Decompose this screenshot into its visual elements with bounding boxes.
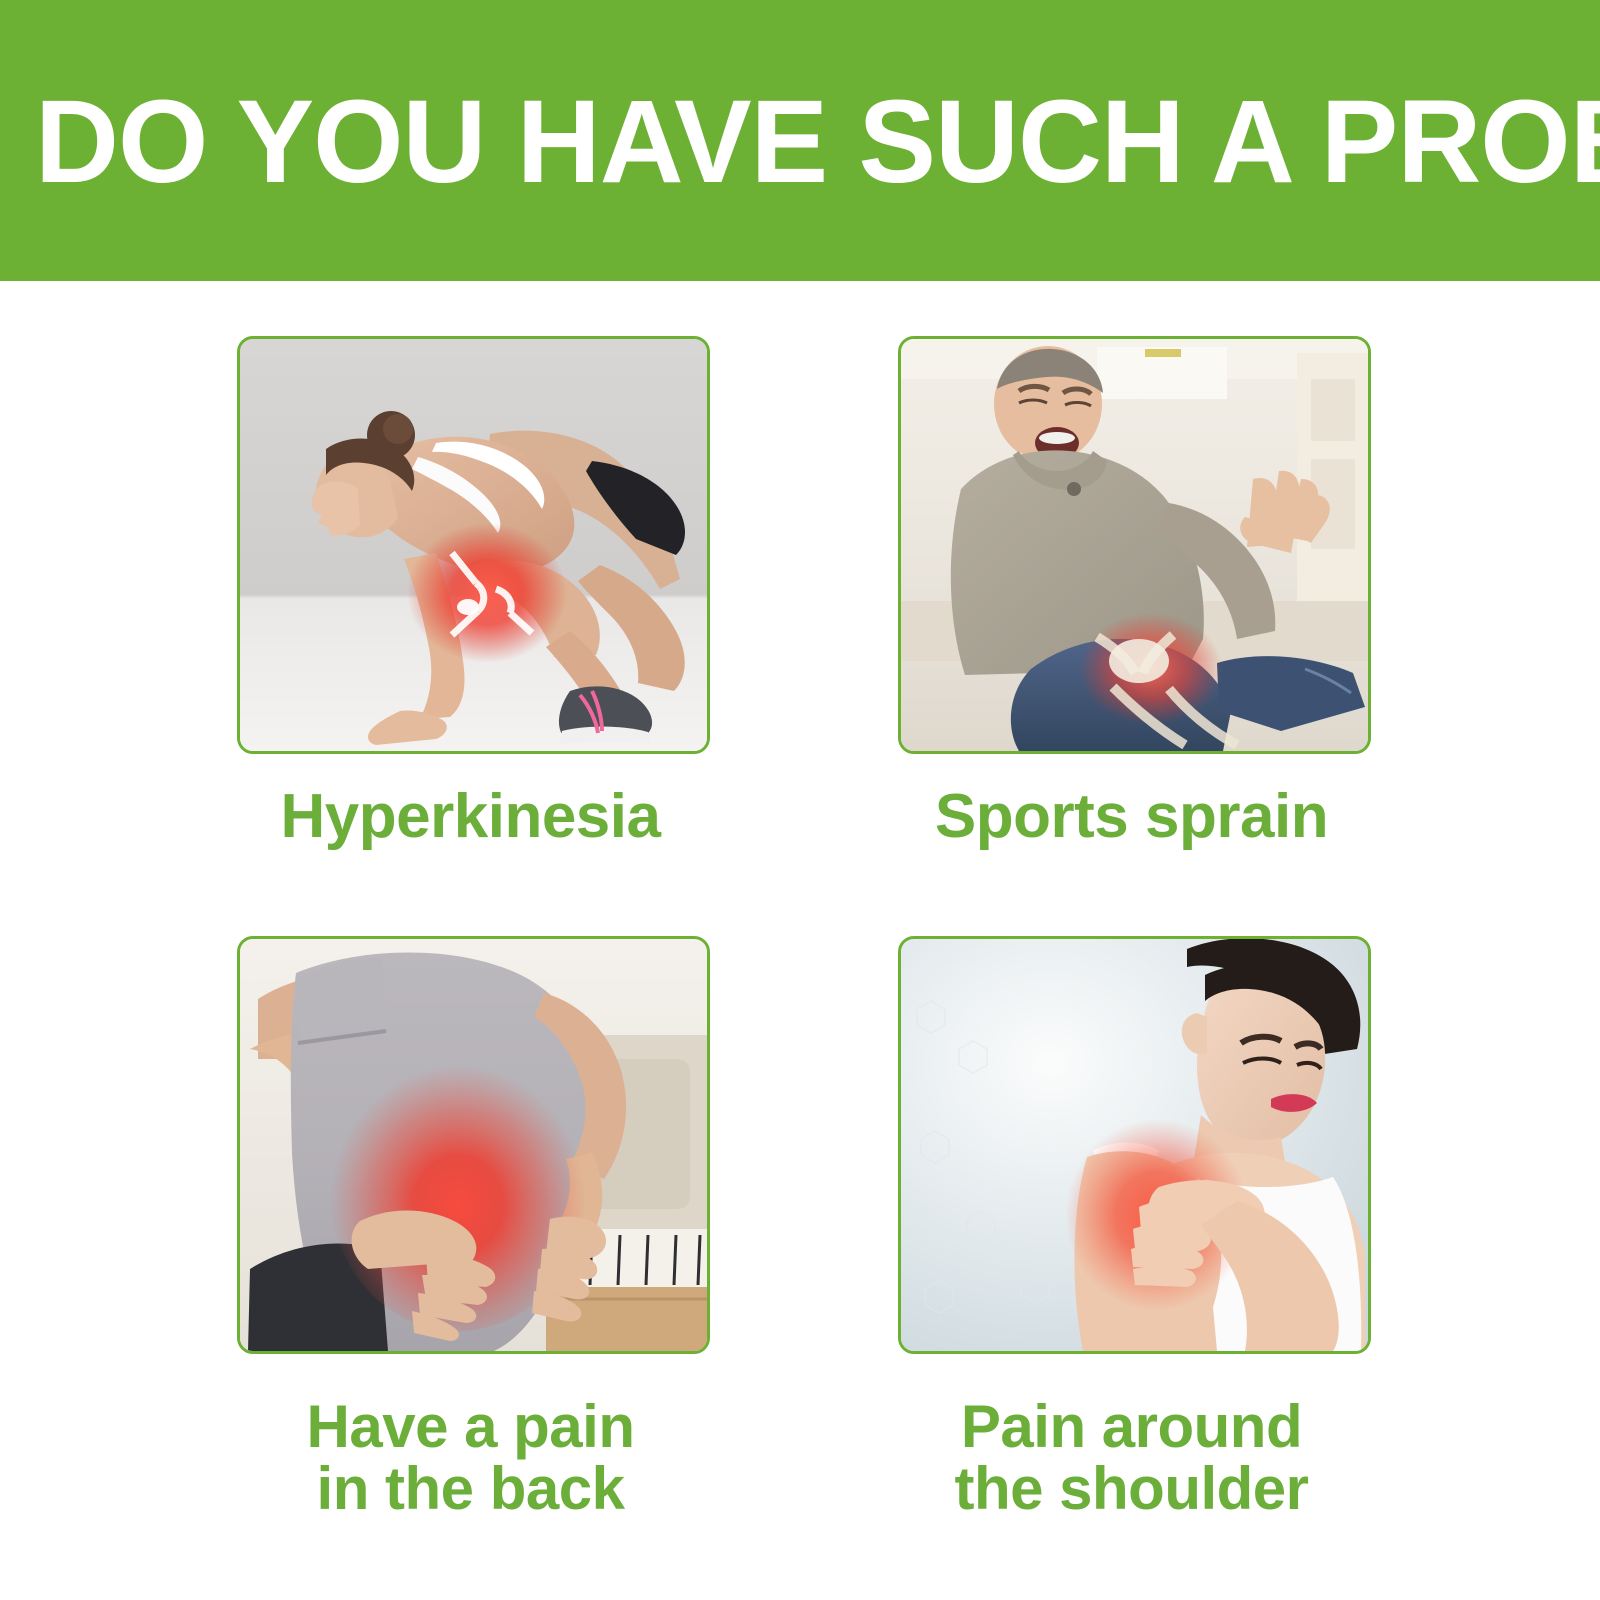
problem-grid: Hyperkinesia: [0, 281, 1600, 1600]
grid-cell-back-pain: Have a pain in the back: [202, 936, 902, 1520]
header-banner: DO YOU HAVE SUCH A PROBLEM?: [0, 0, 1600, 281]
caption-line: Hyperkinesia: [202, 784, 739, 850]
image-card-back-pain[interactable]: [237, 936, 710, 1354]
photo-woman-shoulder-pain: [901, 939, 1368, 1351]
caption-line: in the back: [202, 1458, 739, 1520]
grid-cell-hyperkinesia: Hyperkinesia: [202, 336, 902, 850]
card-caption-hyperkinesia: Hyperkinesia: [202, 784, 739, 850]
caption-line: Pain around: [863, 1396, 1400, 1458]
image-card-shoulder-pain[interactable]: [898, 936, 1371, 1354]
photo-runner-knee-pain: [240, 339, 707, 751]
grid-cell-shoulder-pain: Pain around the shoulder: [863, 936, 1563, 1520]
poster-root: DO YOU HAVE SUCH A PROBLEM?: [0, 0, 1600, 1600]
card-caption-sports-sprain: Sports sprain: [863, 784, 1400, 850]
image-card-hyperkinesia[interactable]: [237, 336, 710, 754]
grid-cell-sports-sprain: Sports sprain: [863, 336, 1563, 850]
image-card-sports-sprain[interactable]: [898, 336, 1371, 754]
photo-man-lower-back-pain: [240, 939, 707, 1351]
caption-line: the shoulder: [863, 1458, 1400, 1520]
caption-line: Have a pain: [202, 1396, 739, 1458]
card-caption-back-pain: Have a pain in the back: [202, 1396, 739, 1520]
photo-man-knee-pain: [901, 339, 1368, 751]
caption-line: Sports sprain: [863, 784, 1400, 850]
pain-highlight-knee: [407, 523, 567, 663]
page-title: DO YOU HAVE SUCH A PROBLEM?: [35, 81, 1547, 203]
card-caption-shoulder-pain: Pain around the shoulder: [863, 1396, 1400, 1520]
